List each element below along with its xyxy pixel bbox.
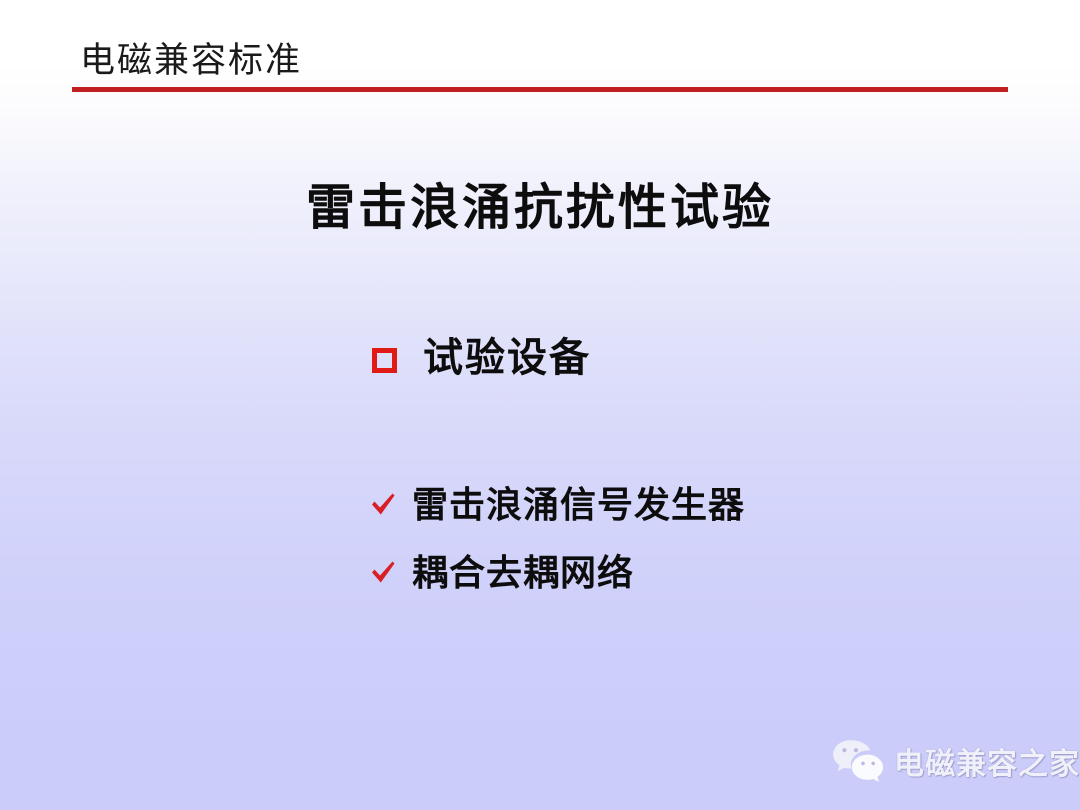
watermark-label: 电磁兼容之家 <box>894 739 1080 783</box>
list-item-label: 雷击浪涌信号发生器 <box>412 487 745 523</box>
sub-bullet-list: 雷击浪涌信号发生器 耦合去耦网络 <box>368 482 745 618</box>
header-divider-rule <box>72 87 1008 92</box>
square-bullet-icon <box>372 348 397 373</box>
bullet-item-level1-label: 试验设备 <box>423 338 591 378</box>
bullet-item-level1: 试验设备 <box>372 338 591 378</box>
watermark: 电磁兼容之家 <box>832 738 1080 784</box>
list-item: 耦合去耦网络 <box>368 550 745 596</box>
slide-canvas: 电磁兼容标准 雷击浪涌抗扰性试验 试验设备 雷击浪涌信号发生器 耦合去耦网络 <box>0 0 1080 810</box>
page-header-title: 电磁兼容标准 <box>80 32 302 83</box>
slide-title: 雷击浪涌抗扰性试验 <box>0 168 1080 239</box>
check-icon <box>368 558 398 588</box>
check-icon <box>368 490 398 520</box>
list-item-label: 耦合去耦网络 <box>412 555 634 591</box>
wechat-icon <box>832 738 886 784</box>
list-item: 雷击浪涌信号发生器 <box>368 482 745 528</box>
